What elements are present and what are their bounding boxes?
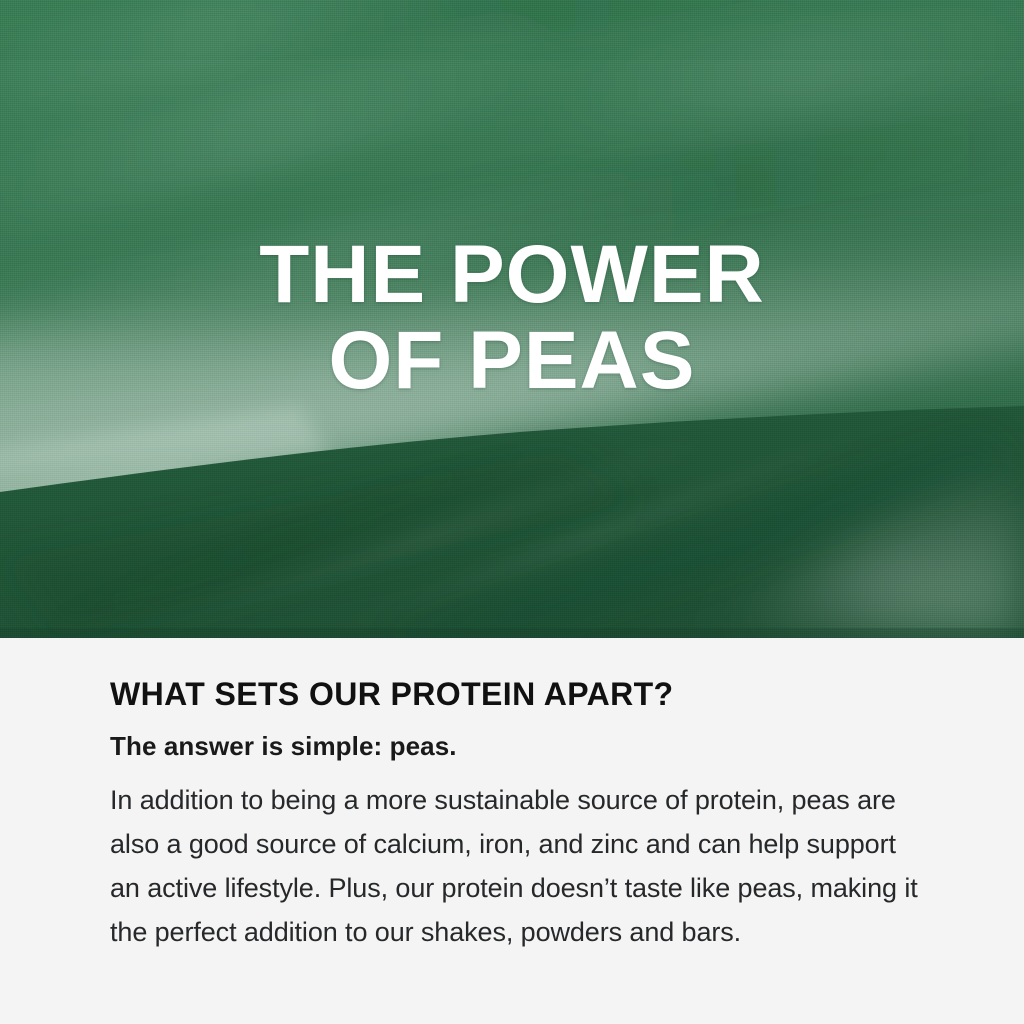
hero-title: THE POWER OF PEAS [0, 232, 1024, 404]
panel-subheading: The answer is simple: peas. [110, 712, 928, 761]
info-panel: WHAT SETS OUR PROTEIN APART? The answer … [0, 638, 1024, 1024]
panel-body-text: In addition to being a more sustainable … [110, 761, 928, 954]
product-info-page: THE POWER OF PEAS WHAT SETS OUR PROTEIN … [0, 0, 1024, 1024]
hero-title-line-2: OF PEAS [0, 318, 1024, 404]
panel-heading: WHAT SETS OUR PROTEIN APART? [110, 638, 928, 712]
hero-title-line-1: THE POWER [259, 229, 765, 320]
hero-banner: THE POWER OF PEAS [0, 0, 1024, 638]
